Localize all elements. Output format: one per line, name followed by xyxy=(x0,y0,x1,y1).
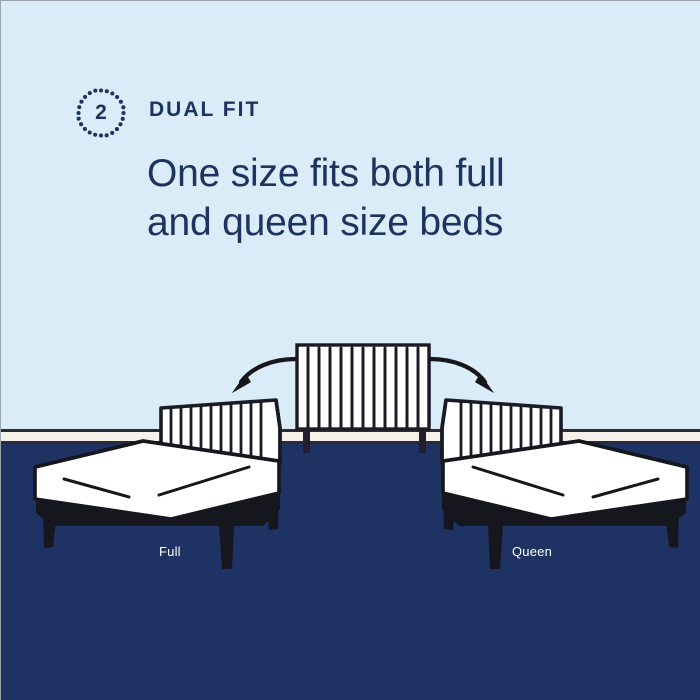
bed-queen-leg-back-left xyxy=(443,495,456,530)
bed-full-leg-front-left xyxy=(43,509,57,548)
arrow-to-queen-bed xyxy=(430,359,494,393)
bed-label-full: Full xyxy=(159,544,181,559)
infographic-canvas: 2 DUAL FIT One size fits both full and q… xyxy=(0,0,700,700)
bed-label-queen: Queen xyxy=(512,544,552,559)
arrow-to-full-bed xyxy=(232,359,296,393)
bed-full-leg-front-right xyxy=(219,524,234,569)
bed-queen xyxy=(442,400,687,569)
bedroom-illustration xyxy=(1,1,700,700)
bed-full-leg-back-right xyxy=(266,495,279,530)
bed-full xyxy=(35,400,280,569)
bed-queen-leg-front-right xyxy=(665,509,679,548)
center-headboard xyxy=(297,345,431,453)
bed-queen-leg-front-left xyxy=(488,524,503,569)
